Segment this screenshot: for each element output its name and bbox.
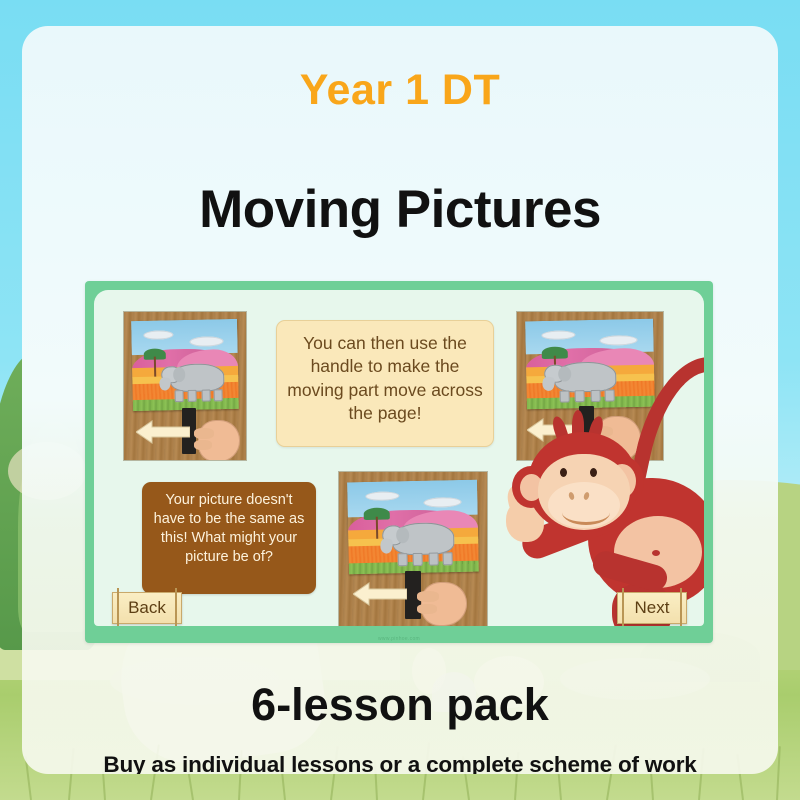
monkey-eye-left: [560, 468, 567, 477]
page-title: Moving Pictures: [22, 179, 778, 240]
elephant-drawing: [347, 480, 479, 575]
slide-preview[interactable]: You can then use the handle to make the …: [85, 281, 713, 643]
elephant-photo-left: [124, 312, 246, 460]
slide-watermark: www.pinhoe.com: [85, 636, 713, 642]
subject-heading: Year 1 DT: [22, 66, 778, 115]
arrow-left-icon: [136, 420, 190, 444]
next-button[interactable]: Next: [617, 592, 687, 624]
tagline-text: Buy as individual lessons or a complete …: [22, 752, 778, 774]
elephant-drawing: [525, 319, 655, 410]
arrow-left-icon: [353, 582, 407, 606]
poster-scene: Year 1 DT Moving Pictures: [0, 0, 800, 800]
monkey-eye-right: [590, 468, 597, 477]
pack-label: 6-lesson pack: [22, 679, 778, 731]
monkey-smile: [562, 500, 610, 525]
slide-canvas: You can then use the handle to make the …: [94, 290, 704, 626]
elephant-drawing: [131, 319, 239, 411]
instruction-text-box: You can then use the handle to make the …: [276, 320, 494, 447]
prompt-text-box: Your picture doesn't have to be the same…: [142, 482, 316, 594]
poster-card: Year 1 DT Moving Pictures: [22, 26, 778, 774]
elephant-photo-bottom: [339, 472, 487, 626]
back-button[interactable]: Back: [112, 592, 182, 624]
